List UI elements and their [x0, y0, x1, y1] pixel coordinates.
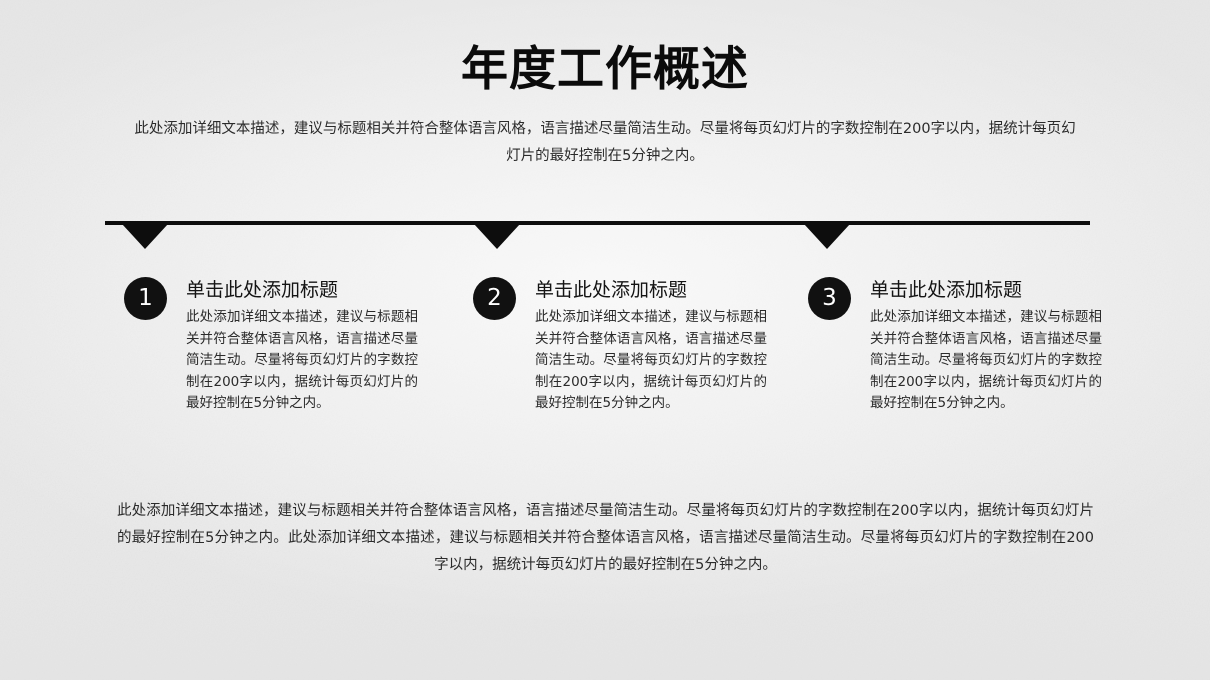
content-column-2: 2 单击此处添加标题 此处添加详细文本描述，建议与标题相关并符合整体语言风格，语…	[473, 277, 793, 415]
step-badge-1: 1	[124, 277, 167, 320]
column-heading-2[interactable]: 单击此处添加标题	[535, 277, 793, 307]
arrow-marker-2-icon	[474, 224, 520, 249]
slide-canvas: 年度工作概述 此处添加详细文本描述，建议与标题相关并符合整体语言风格，语言描述尽…	[0, 0, 1210, 680]
footer-paragraph: 此处添加详细文本描述，建议与标题相关并符合整体语言风格，语言描述尽量简洁生动。尽…	[117, 498, 1094, 579]
column-heading-1[interactable]: 单击此处添加标题	[186, 277, 444, 307]
step-badge-3: 3	[808, 277, 851, 320]
page-title: 年度工作概述	[0, 42, 1210, 98]
divider-line	[105, 221, 1090, 225]
column-heading-3[interactable]: 单击此处添加标题	[870, 277, 1128, 307]
arrow-marker-3-icon	[804, 224, 850, 249]
step-badge-2: 2	[473, 277, 516, 320]
arrow-marker-1-icon	[122, 224, 168, 249]
column-body-3[interactable]: 此处添加详细文本描述，建议与标题相关并符合整体语言风格，语言描述尽量简洁生动。尽…	[870, 307, 1102, 415]
column-body-1[interactable]: 此处添加详细文本描述，建议与标题相关并符合整体语言风格，语言描述尽量简洁生动。尽…	[186, 307, 418, 415]
subtitle-paragraph: 此处添加详细文本描述，建议与标题相关并符合整体语言风格，语言描述尽量简洁生动。尽…	[130, 116, 1080, 170]
content-column-3: 3 单击此处添加标题 此处添加详细文本描述，建议与标题相关并符合整体语言风格，语…	[808, 277, 1128, 415]
content-column-1: 1 单击此处添加标题 此处添加详细文本描述，建议与标题相关并符合整体语言风格，语…	[124, 277, 444, 415]
column-body-2[interactable]: 此处添加详细文本描述，建议与标题相关并符合整体语言风格，语言描述尽量简洁生动。尽…	[535, 307, 767, 415]
